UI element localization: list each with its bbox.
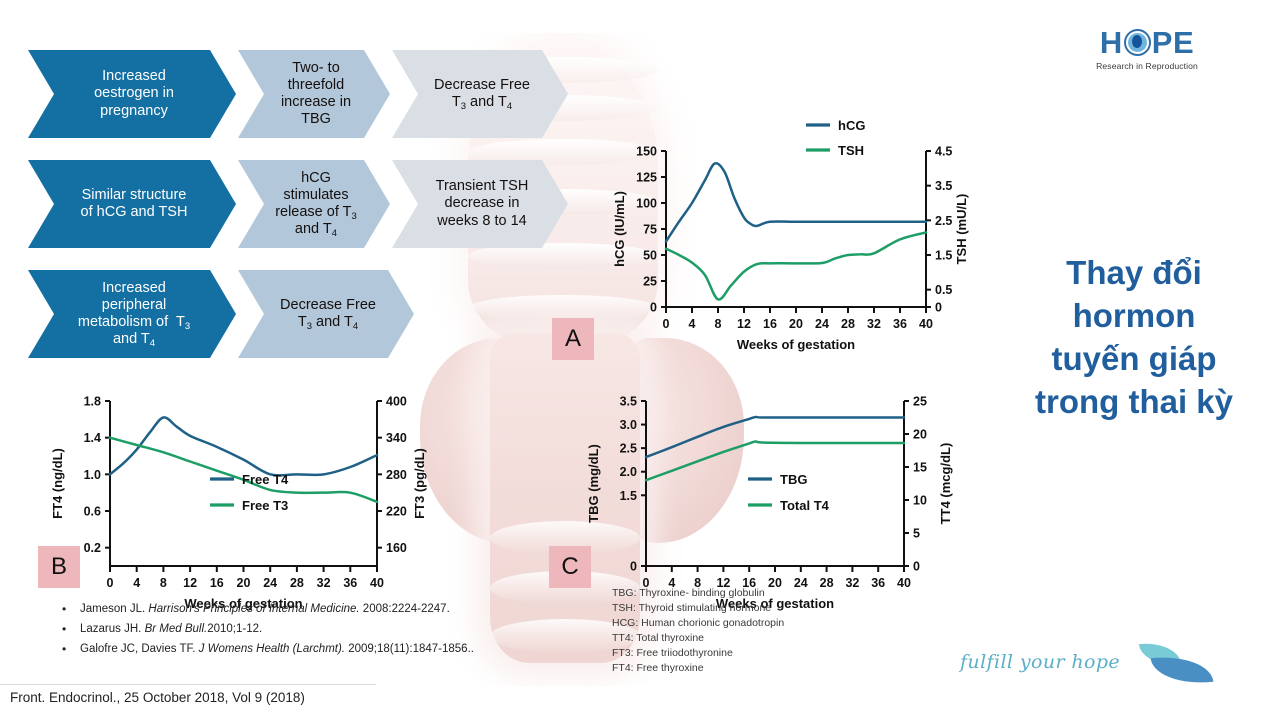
thyroid-lobe-left [420,338,570,543]
svg-text:25: 25 [643,275,657,289]
svg-text:TSH (mU/L): TSH (mU/L) [954,194,969,265]
svg-text:32: 32 [317,576,331,590]
svg-text:24: 24 [815,317,829,331]
svg-text:2.5: 2.5 [935,214,952,228]
svg-text:2.5: 2.5 [620,442,637,456]
page-title-line-3: tuyến giáp [1000,338,1268,381]
flow-step-2-1: Similar structure of hCG and TSH [28,160,236,248]
svg-text:4.5: 4.5 [935,145,952,159]
svg-text:TT4 (mcg/dL): TT4 (mcg/dL) [938,443,953,525]
svg-text:1.5: 1.5 [935,249,952,263]
svg-text:0.6: 0.6 [84,505,101,519]
svg-text:1.0: 1.0 [84,468,101,482]
svg-text:0: 0 [630,560,637,574]
svg-text:40: 40 [897,576,911,590]
page-title: Thay đổi hormon tuyến giáp trong thai kỳ [1000,252,1268,424]
flow-step-1-2: Two- to threefold increase in TBG [238,50,390,138]
svg-text:16: 16 [763,317,777,331]
page-title-line-4: trong thai kỳ [1000,381,1268,424]
svg-text:Free T3: Free T3 [242,498,288,513]
svg-text:28: 28 [290,576,304,590]
hope-logo: H PE Research in Reproduction [1083,27,1211,71]
panel-label-a: A [552,318,594,360]
svg-text:8: 8 [160,576,167,590]
flow-step-3-1-label: Increasedperipheralmetabolism of T3and T… [78,280,190,348]
svg-text:125: 125 [636,171,657,185]
svg-text:2.0: 2.0 [620,465,637,479]
svg-text:280: 280 [386,468,407,482]
svg-text:36: 36 [893,317,907,331]
page-title-line-1: Thay đổi [1000,252,1268,295]
reference-pre: Jameson JL. [80,603,148,615]
svg-text:0: 0 [107,576,114,590]
svg-text:Total T4: Total T4 [780,498,830,513]
svg-text:4: 4 [133,576,140,590]
svg-text:25: 25 [913,395,927,409]
svg-text:TBG: TBG [780,472,807,487]
flow-step-3-1: Increasedperipheralmetabolism of T3and T… [28,270,236,358]
svg-text:40: 40 [919,317,933,331]
reference-journal: Harrison's Principles of Internal Medici… [148,603,359,615]
svg-text:3.5: 3.5 [620,395,637,409]
reference-journal: J Womens Health (Larchmt). [199,643,345,655]
svg-text:Free T4: Free T4 [242,472,289,487]
logo-letter-h: H [1100,27,1123,58]
svg-text:1.8: 1.8 [84,395,101,409]
svg-text:36: 36 [871,576,885,590]
logo-letters-pe: PE [1152,27,1194,58]
svg-text:hCG: hCG [838,118,865,133]
svg-text:FT3 (pg/dL): FT3 (pg/dL) [412,448,427,519]
svg-text:32: 32 [845,576,859,590]
svg-text:1.4: 1.4 [84,431,101,445]
source-citation: Front. Endocrinol., 25 October 2018, Vol… [10,690,305,705]
svg-text:0: 0 [935,301,942,315]
svg-text:0: 0 [913,560,920,574]
slide-canvas: H PE Research in Reproduction Thay đổi h… [0,0,1280,720]
svg-text:3.5: 3.5 [935,179,952,193]
reference-item: Galofre JC, Davies TF. J Womens Health (… [58,640,474,660]
svg-text:0: 0 [663,317,670,331]
reference-item: Lazarus JH. Br Med Bull.2010;1-12. [58,620,474,640]
svg-text:28: 28 [841,317,855,331]
svg-text:36: 36 [343,576,357,590]
svg-text:220: 220 [386,505,407,519]
abbrev-item: HCG: Human chorionic gonadotropin [612,616,784,631]
flow-step-1-3-label: Decrease FreeT3 and T4 [434,77,530,111]
svg-text:TBG (mg/dL): TBG (mg/dL) [586,444,601,523]
svg-text:1.5: 1.5 [620,489,637,503]
reference-list: Jameson JL. Harrison's Principles of Int… [58,600,474,659]
svg-text:400: 400 [386,395,407,409]
logo-tagline: Research in Reproduction [1083,61,1211,71]
svg-text:24: 24 [794,576,808,590]
leaf-logo-icon [1138,642,1212,682]
svg-text:12: 12 [183,576,197,590]
svg-text:100: 100 [636,197,657,211]
abbrev-item: FT4: Free thyroxine [612,661,784,676]
fulfill-your-hope-watermark: fulfill your hope [960,642,1212,682]
chart-b-svg: 0.20.61.01.41.81602202803404000481216202… [32,361,442,616]
flow-step-1-1-label: Increased oestrogen in pregnancy [94,68,174,119]
flow-step-1-1: Increased oestrogen in pregnancy [28,50,236,138]
svg-text:340: 340 [386,431,407,445]
svg-text:20: 20 [237,576,251,590]
chart-b: 0.20.61.01.41.81602202803404000481216202… [32,361,442,616]
flow-step-1-2-label: Two- to threefold increase in TBG [281,60,351,128]
chart-a-svg: 025507510012515000.51.52.53.54.504812162… [596,111,988,351]
flow-step-3-2-label: Decrease FreeT3 and T4 [280,297,376,331]
svg-text:20: 20 [913,428,927,442]
chart-c-svg: 01.52.02.53.03.5051015202504812162024283… [568,361,968,616]
chart-a: 025507510012515000.51.52.53.54.504812162… [596,111,988,351]
flow-step-2-2-label: hCGstimulatesrelease of T3and T4 [275,170,357,238]
svg-text:10: 10 [913,494,927,508]
abbrev-item: TT4: Total thyroxine [612,631,784,646]
chart-c: 01.52.02.53.03.5051015202504812162024283… [568,361,968,616]
svg-text:160: 160 [386,541,407,555]
flow-step-2-1-label: Similar structure of hCG and TSH [81,187,188,221]
svg-text:0.5: 0.5 [935,283,952,297]
flow-step-1-3: Decrease FreeT3 and T4 [392,50,568,138]
svg-text:12: 12 [737,317,751,331]
reference-pre: Galofre JC, Davies TF. [80,643,199,655]
abbreviation-list: TBG: Thyroxine- binding globulin TSH: Th… [612,586,784,675]
svg-text:16: 16 [210,576,224,590]
page-title-line-2: hormon [1000,295,1268,338]
flow-step-2-3: Transient TSH decrease in weeks 8 to 14 [392,160,568,248]
svg-text:0: 0 [650,301,657,315]
abbrev-item: TSH: Thyroid stimulating hormone [612,601,784,616]
flow-step-3-2: Decrease FreeT3 and T4 [238,270,414,358]
abbrev-item: TBG: Thyroxine- binding globulin [612,586,784,601]
journal-figure: Increased oestrogen in pregnancy Two- to… [28,33,988,686]
reference-post: 2008:2224-2247. [360,603,450,615]
svg-text:40: 40 [370,576,384,590]
flow-step-2-2: hCGstimulatesrelease of T3and T4 [238,160,390,248]
svg-text:75: 75 [643,223,657,237]
svg-text:20: 20 [789,317,803,331]
svg-text:TSH: TSH [838,143,864,158]
hope-wordmark: H PE [1083,27,1211,58]
svg-text:hCG (IU/mL): hCG (IU/mL) [612,191,627,267]
svg-text:Weeks of gestation: Weeks of gestation [737,337,855,352]
reference-item: Jameson JL. Harrison's Principles of Int… [58,600,474,620]
svg-text:28: 28 [820,576,834,590]
svg-text:FT4 (ng/dL): FT4 (ng/dL) [50,448,65,519]
svg-text:0.2: 0.2 [84,541,101,555]
svg-text:8: 8 [715,317,722,331]
flow-step-2-3-label: Transient TSH decrease in weeks 8 to 14 [436,178,529,229]
reference-post: 2009;18(11):1847-1856.. [345,643,474,655]
watermark-text: fulfill your hope [960,651,1120,673]
svg-text:15: 15 [913,461,927,475]
svg-text:32: 32 [867,317,881,331]
abbrev-item: FT3: Free triiodothyronine [612,646,784,661]
reference-journal: Br Med Bull. [145,623,208,635]
svg-text:5: 5 [913,527,920,541]
svg-text:50: 50 [643,249,657,263]
svg-text:4: 4 [689,317,696,331]
footer-divider [0,684,376,685]
svg-text:24: 24 [263,576,277,590]
reference-post: 2010;1-12. [207,623,262,635]
reference-pre: Lazarus JH. [80,623,145,635]
svg-text:150: 150 [636,145,657,159]
eye-logo-icon [1124,29,1151,56]
svg-text:3.0: 3.0 [620,418,637,432]
